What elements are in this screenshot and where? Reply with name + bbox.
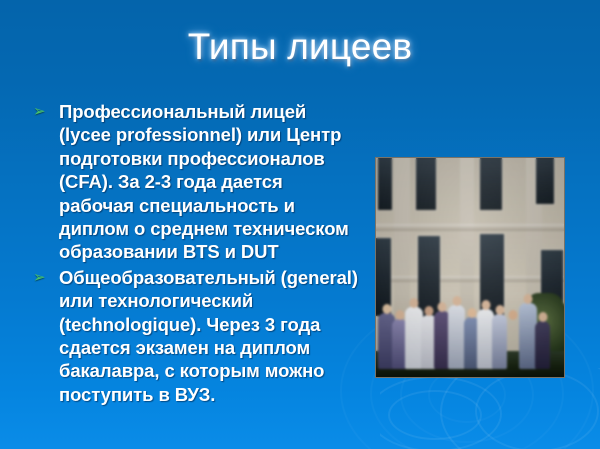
list-item: ➢ Профессиональный лицей (lycee professi… [30,100,360,264]
list-item-text: Профессиональный лицей (lycee profession… [59,101,349,262]
bullet-arrow-icon: ➢ [33,103,51,121]
student-crowd [376,273,564,369]
list-item: ➢ Общеобразовательный (general) или техн… [30,266,360,406]
presentation-slide: Типы лицеев ➢ Профессиональный лицей (ly… [0,0,600,449]
page-title: Типы лицеев [0,26,600,68]
watermark-rings-secondary [380,368,600,449]
bullet-list: ➢ Профессиональный лицей (lycee professi… [30,100,360,408]
list-item-text: Общеобразовательный (general) или технол… [59,267,358,405]
bullet-arrow-icon: ➢ [33,269,51,287]
slide-photo [375,157,565,378]
